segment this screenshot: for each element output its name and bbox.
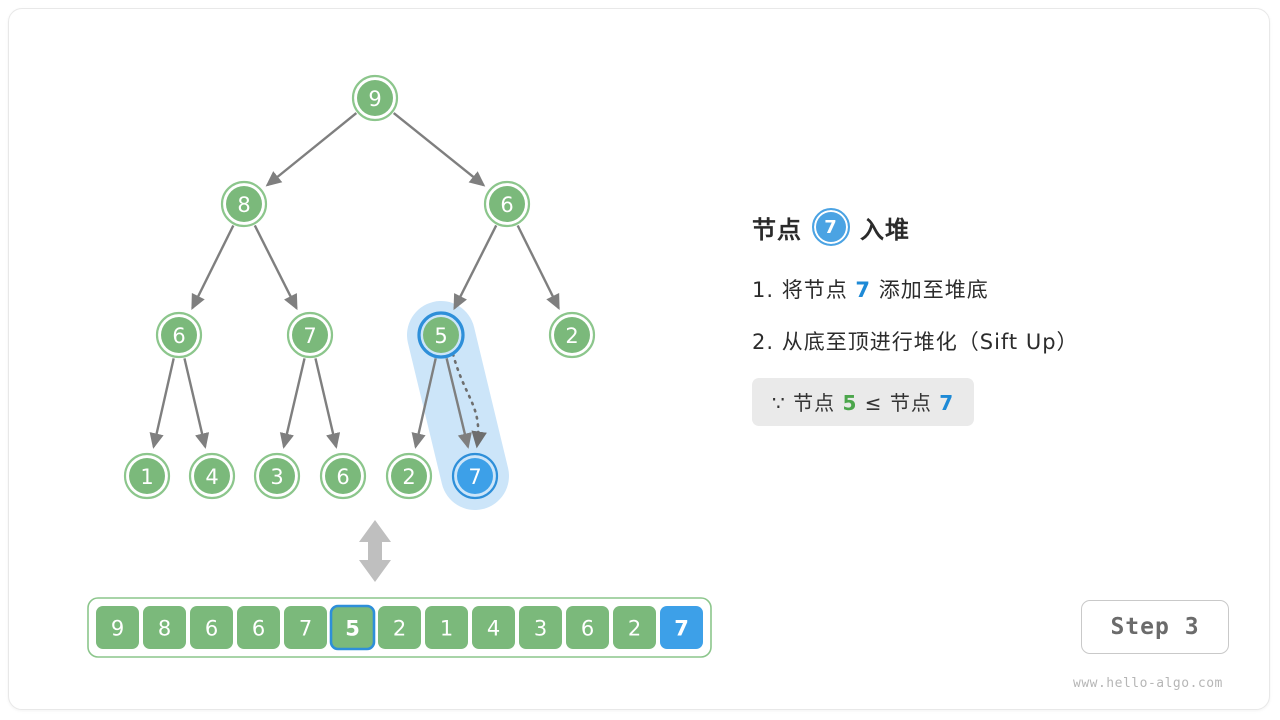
title-prefix: 节点 — [752, 210, 802, 245]
instruction-step-1: 1. 将节点 7 添加至堆底 — [752, 274, 1222, 304]
reason-right-value: 7 — [939, 391, 954, 415]
tree-node: 1 — [125, 454, 169, 498]
tree-edge — [315, 358, 336, 446]
tree-node: 7 — [453, 454, 497, 498]
tree-edge — [184, 358, 205, 446]
array-cell: 5 — [331, 606, 374, 649]
title-suffix: 入堆 — [860, 210, 910, 245]
array-cell-value: 1 — [440, 617, 453, 641]
tree-node: 4 — [190, 454, 234, 498]
tree-node-value: 7 — [468, 465, 481, 489]
tree-node: 6 — [321, 454, 365, 498]
reason-left-value: 5 — [842, 391, 857, 415]
reason-left-label: 节点 — [793, 391, 835, 415]
tree-node: 9 — [353, 76, 397, 120]
tree-node: 2 — [387, 454, 431, 498]
array-cell: 6 — [237, 606, 280, 649]
array-cell: 7 — [660, 606, 703, 649]
array-cell: 4 — [472, 606, 515, 649]
tree-node-value: 6 — [500, 193, 513, 217]
because-symbol: ∵ — [772, 391, 786, 415]
array-cell: 1 — [425, 606, 468, 649]
step-1-value: 7 — [855, 278, 871, 302]
tree-node-value: 5 — [434, 324, 447, 348]
page-title: 节点 7 入堆 — [752, 202, 1222, 252]
tree-node: 7 — [288, 313, 332, 357]
array-cell: 7 — [284, 606, 327, 649]
array-cell-value: 4 — [487, 617, 500, 641]
array-cell-value: 8 — [158, 617, 171, 641]
array-cell: 3 — [519, 606, 562, 649]
reason-callout: ∵ 节点 5 ≤ 节点 7 — [752, 378, 974, 426]
reason-right-label: 节点 — [890, 391, 932, 415]
array-cell-value: 6 — [252, 617, 265, 641]
step-1-index: 1. — [752, 278, 774, 302]
tree-node: 2 — [550, 313, 594, 357]
step-1-before: 将节点 — [782, 278, 848, 302]
array-cell-value: 6 — [581, 617, 594, 641]
tree-node-value: 6 — [172, 324, 185, 348]
tree-array-link-arrow — [359, 520, 391, 582]
figure-stage: 9866752143627 9866752143627 节点 7 入堆 1. 将… — [0, 0, 1280, 720]
tree-node-value: 4 — [205, 465, 218, 489]
reason-operator: ≤ — [865, 391, 883, 415]
step-2-before: 从底至顶进行堆化（Sift Up） — [782, 330, 1079, 354]
tree-node-value: 1 — [140, 465, 153, 489]
tree-edges — [154, 113, 559, 447]
array-cell-value: 6 — [205, 617, 218, 641]
tree-node-value: 3 — [270, 465, 283, 489]
tree-node: 6 — [157, 313, 201, 357]
array-cell: 9 — [96, 606, 139, 649]
array-cell-value: 2 — [628, 617, 641, 641]
tree-edge — [192, 225, 233, 308]
array-cell-value: 2 — [393, 617, 406, 641]
tree-node-value: 9 — [368, 87, 381, 111]
tree-edge — [454, 225, 496, 308]
watermark: www.hello-algo.com — [1073, 676, 1223, 691]
tree-node: 3 — [255, 454, 299, 498]
tree-node-value: 6 — [336, 465, 349, 489]
array-cell-value: 7 — [674, 617, 689, 641]
array-cell: 8 — [143, 606, 186, 649]
tree-node-value: 2 — [565, 324, 578, 348]
array-cell: 2 — [613, 606, 656, 649]
tree-node: 5 — [419, 313, 463, 357]
tree-edge — [267, 113, 356, 185]
tree-node-value: 2 — [402, 465, 415, 489]
array-cell-value: 9 — [111, 617, 124, 641]
array-cell: 6 — [190, 606, 233, 649]
tree-node: 8 — [222, 182, 266, 226]
heap-array: 9866752143627 — [88, 598, 711, 657]
tree-edge — [284, 358, 305, 446]
instruction-step-2: 2. 从底至顶进行堆化（Sift Up） — [752, 326, 1222, 356]
tree-node-value: 7 — [303, 324, 316, 348]
array-cell: 6 — [566, 606, 609, 649]
step-badge: Step 3 — [1081, 600, 1229, 654]
step-2-index: 2. — [752, 330, 774, 354]
tree-edge — [518, 225, 559, 308]
array-cell: 2 — [378, 606, 421, 649]
tree-node-value: 8 — [237, 193, 250, 217]
tree-edge — [255, 225, 297, 308]
step-1-after: 添加至堆底 — [879, 278, 989, 302]
tree-edge — [394, 113, 484, 185]
tree-edge — [154, 358, 174, 446]
explanation-panel: 节点 7 入堆 1. 将节点 7 添加至堆底 2. 从底至顶进行堆化（Sift … — [752, 202, 1222, 426]
tree-nodes: 9866752143627 — [125, 76, 594, 498]
title-node-badge: 7 — [812, 208, 850, 246]
array-cell-value: 3 — [534, 617, 547, 641]
array-cell-value: 7 — [299, 617, 312, 641]
tree-node: 6 — [485, 182, 529, 226]
array-cell-value: 5 — [345, 617, 360, 641]
